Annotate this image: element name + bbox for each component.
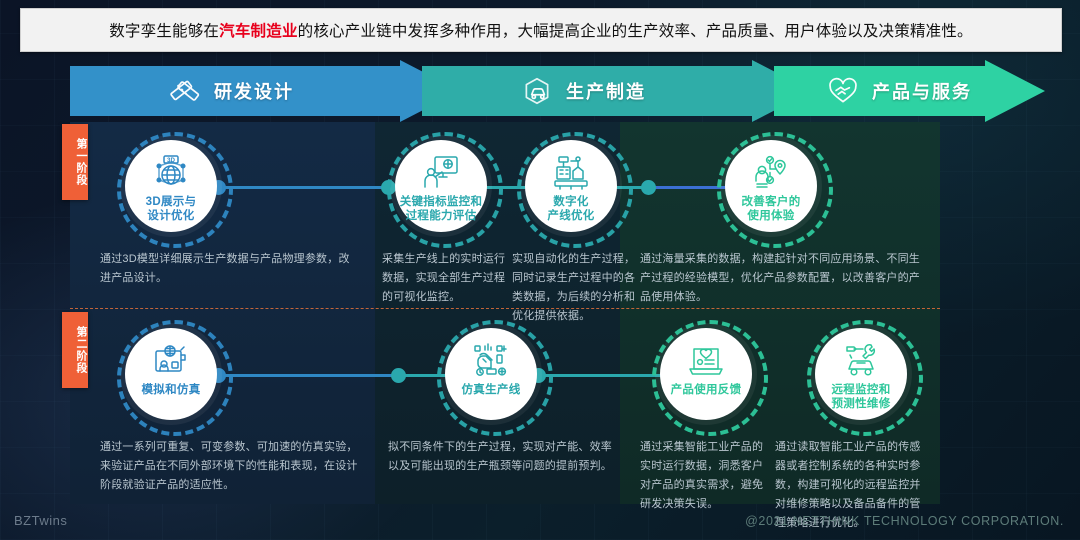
node-ring-kpi-monitor — [387, 132, 503, 248]
node-ring-remote-maintenance — [807, 320, 923, 436]
node-ring-simulation — [117, 320, 233, 436]
handshake-heart-icon — [826, 74, 860, 108]
node-circle-digital-line[interactable]: 数字化 产线优化 — [525, 140, 617, 232]
node-desc-digital-line: 实现自动化的生产过程，同时记录生产过程中的各类数据，为后续的分析和优化提供依据。 — [512, 250, 640, 326]
node-desc-customer-exp: 通过海量采集的数据，构建起针对不同应用场景、不同生产过程的经验模型，优化产品参数… — [640, 250, 930, 307]
node-desc-3d-display: 通过3D模型详细展示生产数据与产品物理参数，改进产品设计。 — [100, 250, 355, 288]
stage-badge-2: 第二阶段 — [62, 312, 88, 388]
stage-badge-1: 第一阶段 — [62, 124, 88, 200]
phase-arrow-product-service[interactable]: 产品与服务 — [774, 60, 1045, 122]
node-ring-sim-line — [437, 320, 553, 436]
connector-node-r1-3 — [641, 180, 656, 195]
node-circle-sim-line[interactable]: 仿真生产线 — [445, 328, 537, 420]
connector-node-r2-2 — [391, 368, 406, 383]
stage-divider — [70, 308, 940, 309]
phase-label-rnd: 研发设计 — [214, 78, 294, 104]
node-desc-simulation: 通过一系列可重复、可变参数、可加速的仿真实验，来验证产品在不同外部环境下的性能和… — [100, 438, 365, 495]
node-ring-digital-line — [517, 132, 633, 248]
node-circle-simulation[interactable]: 模拟和仿真 — [125, 328, 217, 420]
caption-before: 数字孪生能够在 — [109, 23, 219, 40]
caption-after: 的核心产业链中发挥多种作用，大幅提高企业的生产效率、产品质量、用户体验以及决策精… — [298, 23, 973, 40]
node-ring-customer-exp — [717, 132, 833, 248]
phase-arrow-rnd[interactable]: 研发设计 — [70, 60, 460, 122]
phase-arrow-manufacturing[interactable]: 生产制造 — [422, 60, 812, 122]
node-ring-3d-display — [117, 132, 233, 248]
node-ring-product-feedback — [652, 320, 768, 436]
phase-label-product-service: 产品与服务 — [872, 78, 972, 104]
car-gear-icon — [520, 74, 554, 108]
node-circle-kpi-monitor[interactable]: 关键指标监控和 过程能力评估 — [395, 140, 487, 232]
phase-arrow-band: 研发设计 生产制造 产品与服务 — [70, 60, 1045, 122]
caption-bar: 数字孪生能够在汽车制造业的核心产业链中发挥多种作用，大幅提高企业的生产效率、产品… — [20, 8, 1062, 52]
slide-canvas: 数字孪生能够在汽车制造业的核心产业链中发挥多种作用，大幅提高企业的生产效率、产品… — [0, 0, 1080, 540]
caption-highlight: 汽车制造业 — [219, 23, 298, 40]
node-desc-kpi-monitor: 采集生产线上的实时运行数据，实现全部生产过程的可视化监控。 — [382, 250, 510, 307]
node-circle-remote-maintenance[interactable]: 远程监控和 预测性维修 — [815, 328, 907, 420]
node-circle-product-feedback[interactable]: 产品使用反馈 — [660, 328, 752, 420]
node-circle-3d-display[interactable]: 3D 3D展示与 设计优化 — [125, 140, 217, 232]
connector-r1-a — [218, 186, 388, 189]
footer-brand: BZTwins — [14, 513, 67, 528]
node-circle-customer-exp[interactable]: 改善客户的 使用体验 — [725, 140, 817, 232]
footer-copyright: @2021 NETTHINK TECHNOLOGY CORPORATION. — [745, 514, 1064, 528]
phase-label-manufacturing: 生产制造 — [566, 78, 646, 104]
node-desc-sim-line: 拟不同条件下的生产过程，实现对产能、效率以及可能出现的生产瓶颈等问题的提前预判。 — [388, 438, 620, 476]
caption-text: 数字孪生能够在汽车制造业的核心产业链中发挥多种作用，大幅提高企业的生产效率、产品… — [109, 19, 973, 41]
node-desc-product-feedback: 通过采集智能工业产品的实时运行数据，洞悉客户对产品的真实需求，避免研发决策失误。 — [640, 438, 768, 514]
stages-panel: 第一阶段 第二阶段 — [70, 122, 940, 504]
ruler-pencil-icon — [168, 74, 202, 108]
